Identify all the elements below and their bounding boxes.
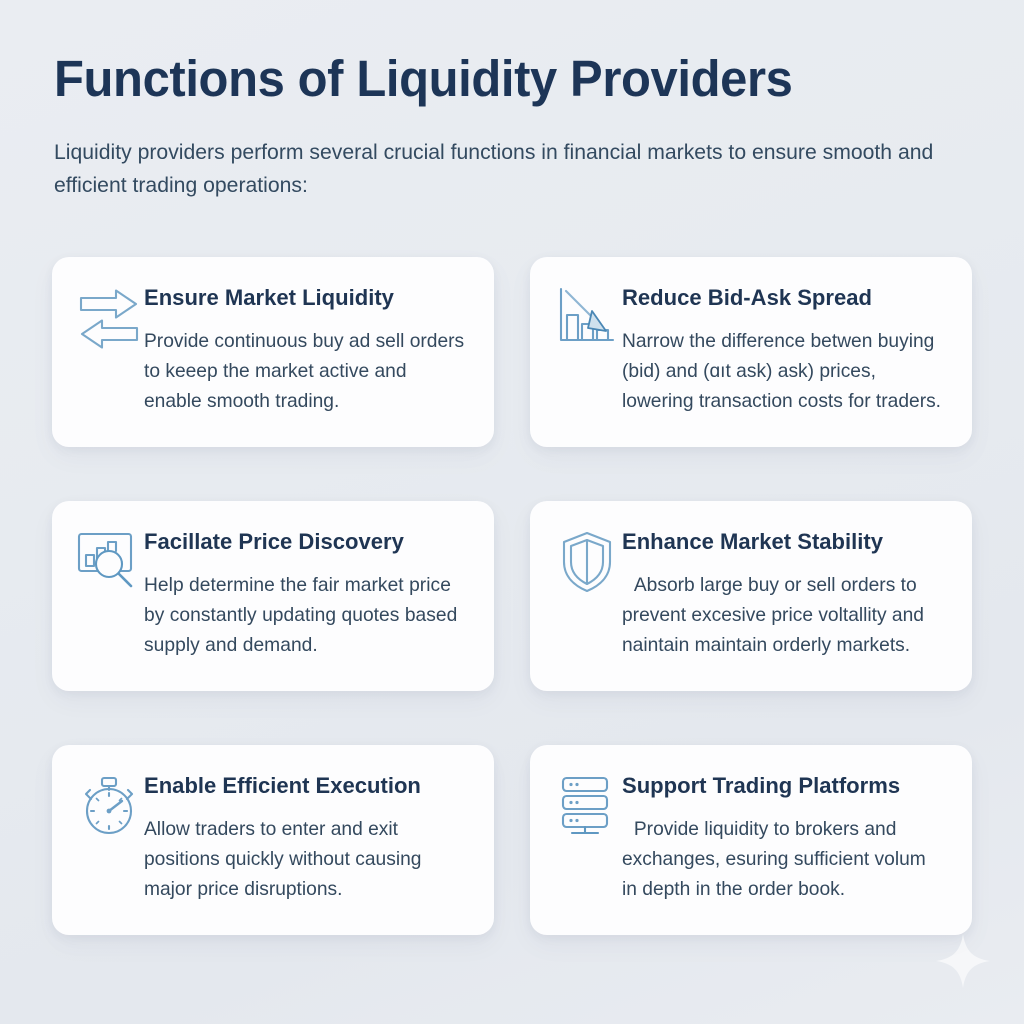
- card-title: Support Trading Platforms: [622, 772, 940, 799]
- two-way-arrows-icon: [76, 284, 142, 354]
- card-text: Provide liquidity to brokers and exchang…: [622, 815, 943, 904]
- card-text: Absorb large buy or sell orders to preve…: [622, 571, 943, 660]
- card-text: Narrow the difference betwen buying (bid…: [622, 327, 943, 416]
- card-body: Ensure Market Liquidity Provide continuo…: [142, 284, 468, 416]
- card-body: Enable Efficient Execution Allow traders…: [142, 772, 468, 904]
- card-support-trading-platforms: Support Trading Platforms Provide liquid…: [530, 745, 972, 935]
- card-enable-efficient-execution: Enable Efficient Execution Allow traders…: [52, 745, 494, 935]
- function-card-grid: Ensure Market Liquidity Provide continuo…: [52, 257, 972, 935]
- card-facilitate-price-discovery: Facillate Price Discovery Help determine…: [52, 501, 494, 691]
- shield-icon: [554, 528, 620, 598]
- server-stack-icon: [554, 772, 620, 842]
- card-ensure-market-liquidity: Ensure Market Liquidity Provide continuo…: [52, 257, 494, 447]
- card-title: Facillate Price Discovery: [144, 528, 462, 555]
- stopwatch-icon: [76, 772, 142, 842]
- card-text: Provide continuous buy ad sell orders to…: [144, 327, 465, 416]
- card-reduce-bid-ask-spread: Reduce Bid-Ask Spread Narrow the differe…: [530, 257, 972, 447]
- header: Functions of Liquidity Providers Liquidi…: [54, 52, 972, 201]
- card-enhance-market-stability: Enhance Market Stability Absorb large bu…: [530, 501, 972, 691]
- card-title: Reduce Bid-Ask Spread: [622, 284, 940, 311]
- infographic-page: Functions of Liquidity Providers Liquidi…: [0, 0, 1024, 1024]
- card-body: Enhance Market Stability Absorb large bu…: [620, 528, 946, 660]
- page-subtitle: Liquidity providers perform several cruc…: [54, 136, 945, 201]
- page-title: Functions of Liquidity Providers: [54, 52, 935, 106]
- card-title: Enhance Market Stability: [622, 528, 940, 555]
- card-title: Ensure Market Liquidity: [144, 284, 462, 311]
- chart-magnifier-icon: [76, 528, 142, 598]
- card-title: Enable Efficient Execution: [144, 772, 462, 799]
- card-body: Facillate Price Discovery Help determine…: [142, 528, 468, 660]
- card-body: Support Trading Platforms Provide liquid…: [620, 772, 946, 904]
- card-text: Allow traders to enter and exit position…: [144, 815, 465, 904]
- card-body: Reduce Bid-Ask Spread Narrow the differe…: [620, 284, 946, 416]
- card-text: Help determine the fair market price by …: [144, 571, 465, 660]
- declining-bar-chart-arrow-icon: [554, 284, 620, 354]
